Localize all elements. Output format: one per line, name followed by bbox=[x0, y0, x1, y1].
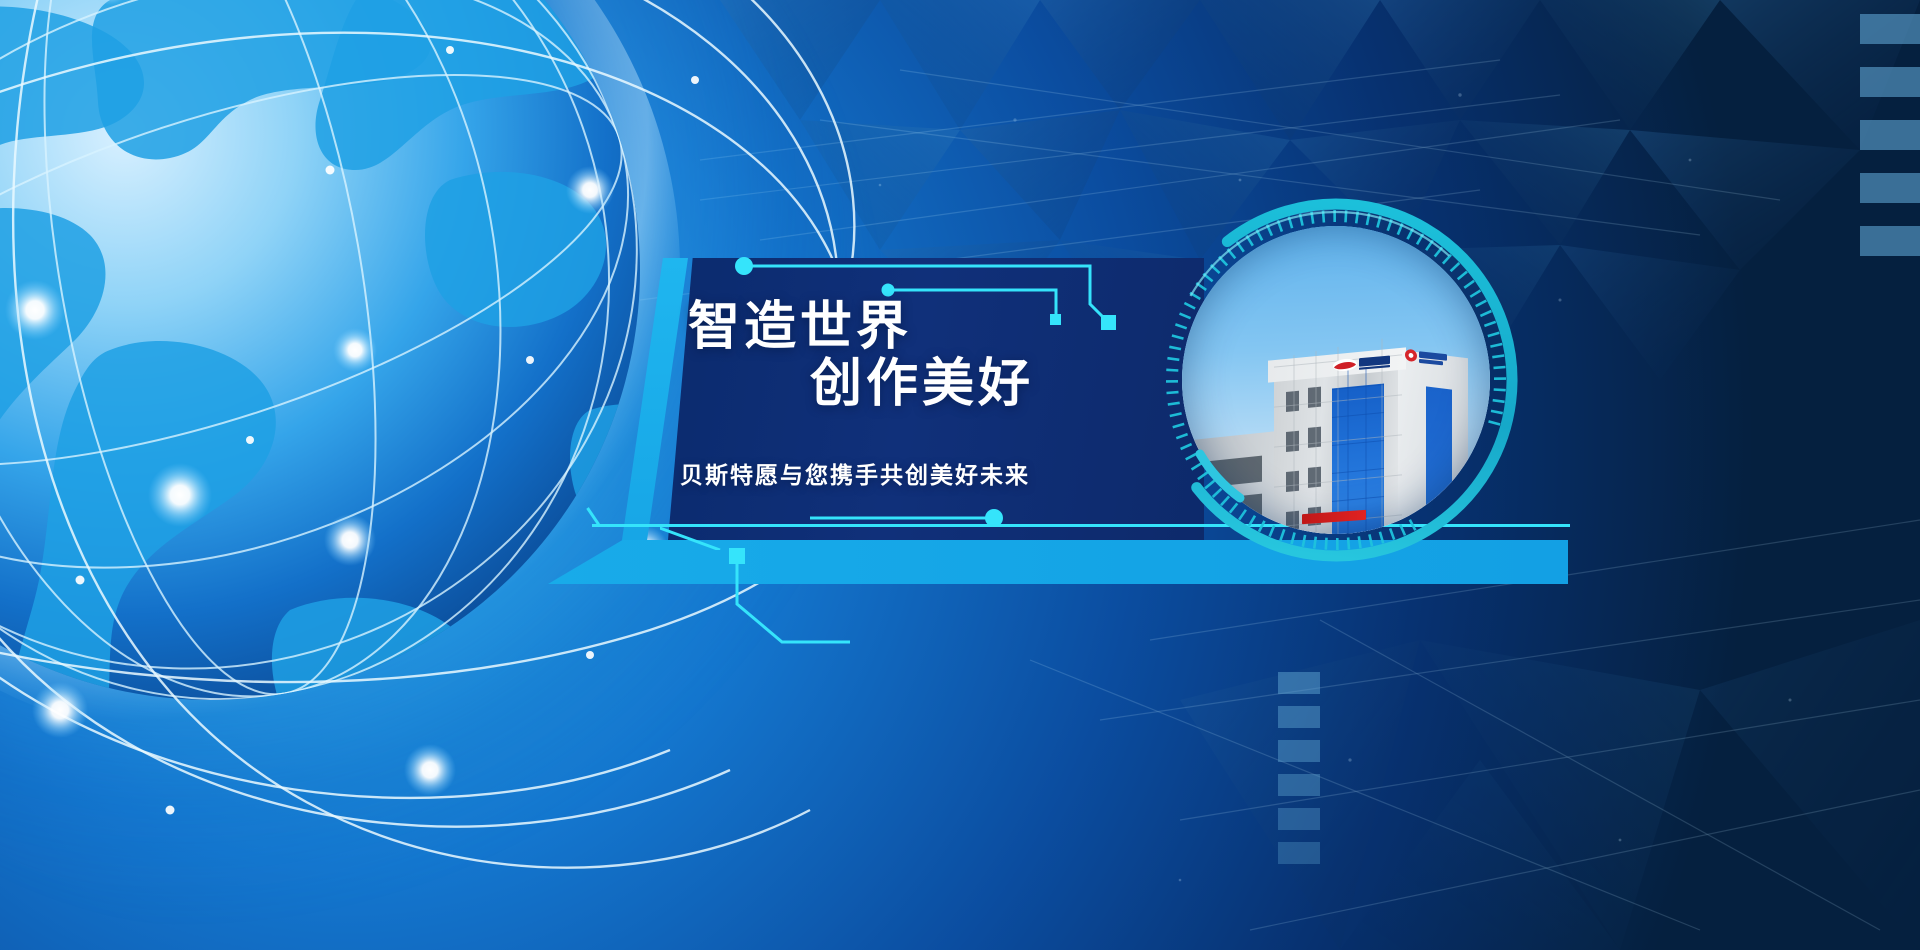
right-edge-dash-group bbox=[1860, 14, 1920, 256]
dash-bar bbox=[1278, 740, 1320, 762]
headline-line-1: 智造世界 bbox=[680, 300, 1180, 355]
banner-subtitle: 贝斯特愿与您携手共创美好未来 bbox=[680, 456, 1030, 490]
dash-bar bbox=[1860, 120, 1920, 150]
dash-bar bbox=[1278, 774, 1320, 796]
dash-bar bbox=[1860, 67, 1920, 97]
headline-block: 智造世界 创作美好 bbox=[680, 300, 1180, 413]
dash-bar bbox=[1278, 706, 1320, 728]
stripe-connector-square bbox=[729, 548, 745, 564]
connector-dot-bottom bbox=[985, 509, 1003, 527]
dash-bar bbox=[1860, 14, 1920, 44]
stripe-connector-path bbox=[720, 556, 850, 646]
connector-dot-top bbox=[735, 257, 753, 275]
dash-bar bbox=[1278, 808, 1320, 830]
dash-bar bbox=[1278, 842, 1320, 864]
dash-bar bbox=[1860, 173, 1920, 203]
connector-dot-second bbox=[882, 284, 895, 297]
dash-bar bbox=[1278, 672, 1320, 694]
banner-stage: 智造世界 创作美好 贝斯特愿与您携手共创美好未来 bbox=[0, 0, 1920, 950]
bottom-dash-group bbox=[1278, 672, 1320, 864]
headline-line-2: 创作美好 bbox=[680, 355, 1180, 413]
dash-bar bbox=[1860, 226, 1920, 256]
